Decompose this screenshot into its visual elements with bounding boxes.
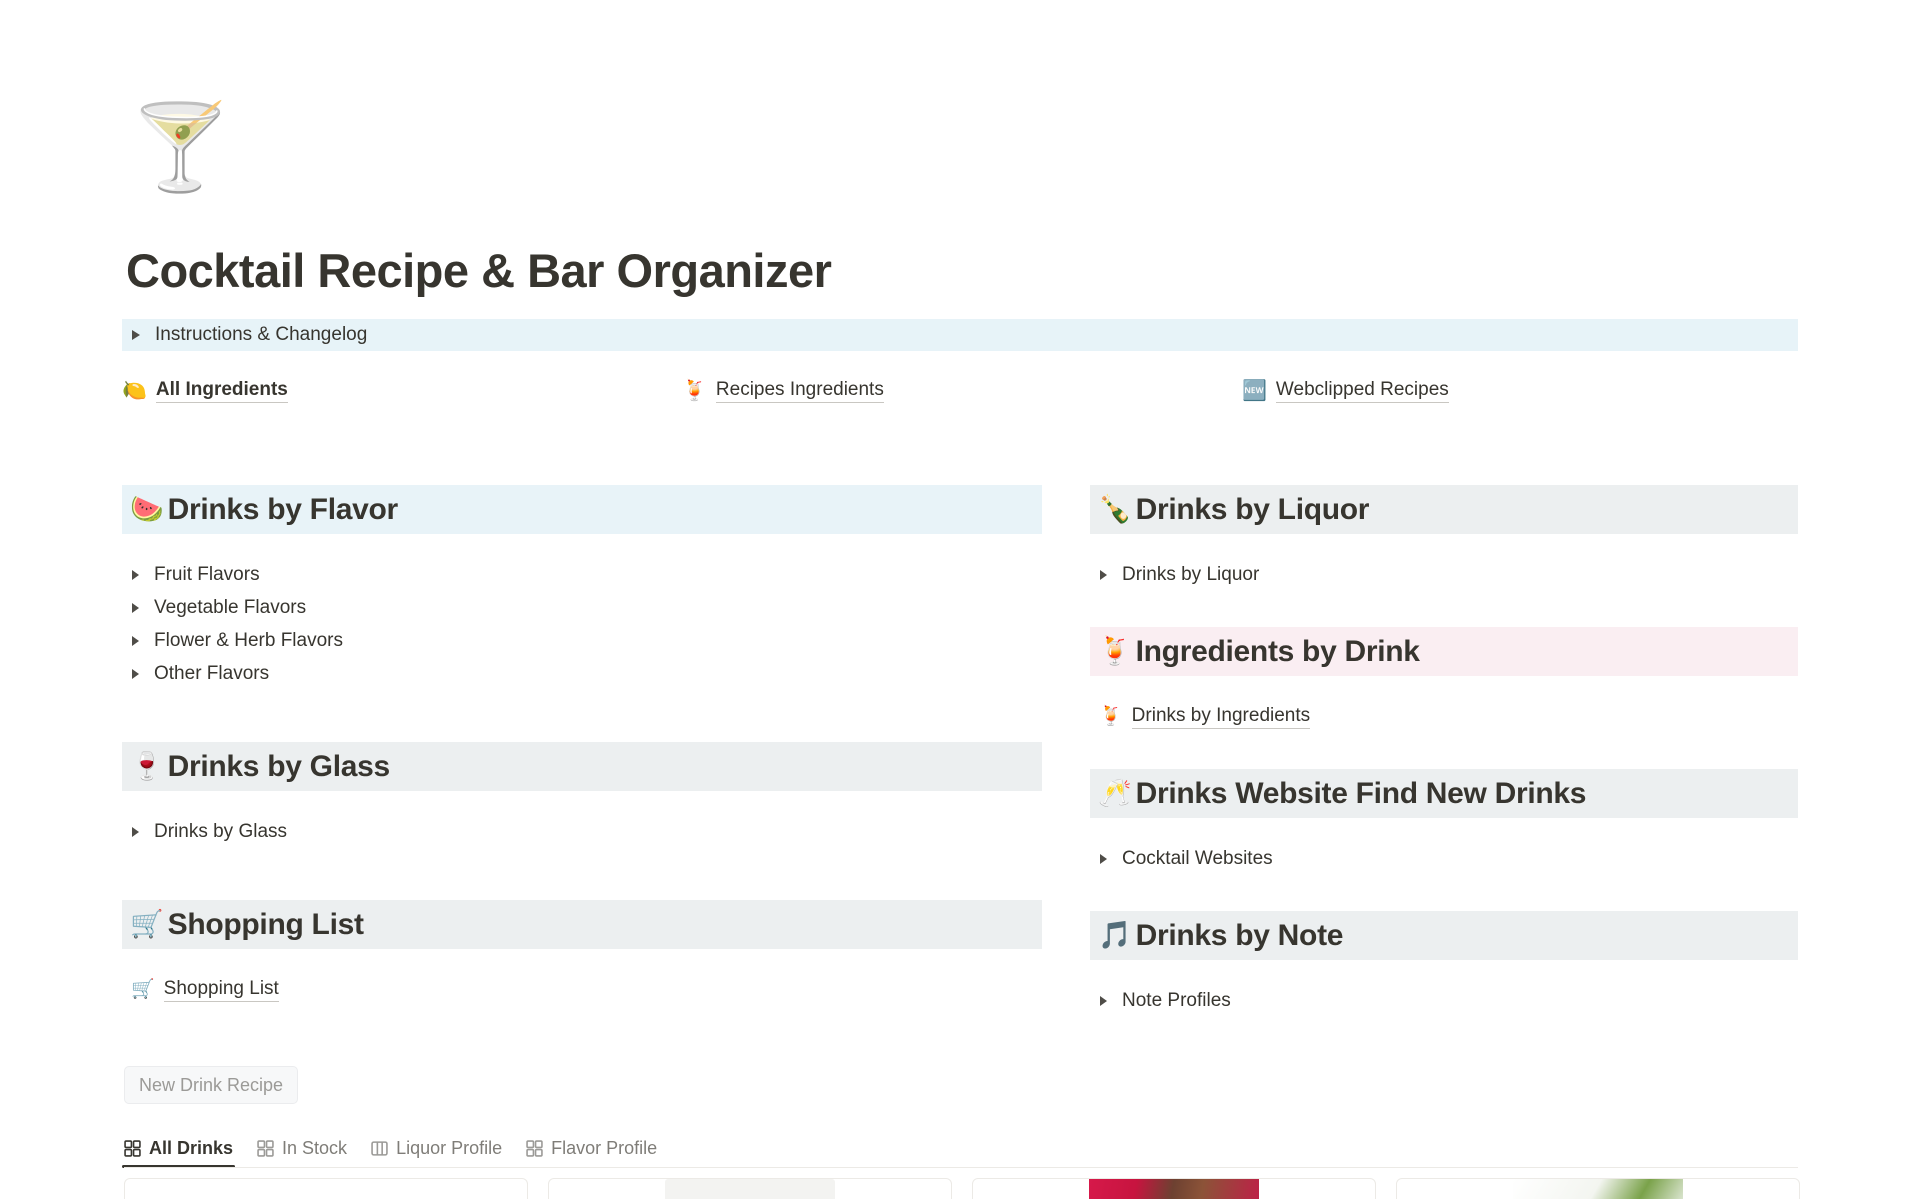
section-title: Drinks by Flavor [168, 493, 398, 527]
section-title: Shopping List [168, 908, 364, 942]
champagne-bottle-icon: 🍾 [1098, 496, 1132, 523]
tropical-drink-icon: 🍹 [1098, 638, 1132, 665]
notion-page: 🍸 Cocktail Recipe & Bar Organizer Instru… [0, 0, 1920, 1199]
toggle-label: Instructions & Changelog [155, 324, 367, 346]
section-header: 🛒 Shopping List [122, 900, 1042, 949]
toggle-fruit-flavors[interactable]: Fruit Flavors [122, 558, 1042, 591]
new-badge-icon: 🆕 [1242, 381, 1267, 401]
card-thumbnail [1513, 1179, 1683, 1199]
section-header: 🍹 Ingredients by Drink [1090, 627, 1798, 676]
gallery-view-icon [526, 1140, 543, 1157]
spacer [1090, 534, 1798, 558]
chevron-right-icon[interactable] [1100, 570, 1107, 580]
toggle-drinks-by-glass[interactable]: Drinks by Glass [122, 815, 1042, 848]
tab-in-stock[interactable]: In Stock [257, 1138, 347, 1168]
section-header: 🎵 Drinks by Note [1090, 911, 1798, 960]
toggle-label: Note Profiles [1122, 990, 1231, 1012]
section-drinks-by-liquor: 🍾 Drinks by Liquor Drinks by Liquor [1090, 485, 1798, 591]
spacer [122, 534, 1042, 558]
clinking-glasses-icon: 🥂 [1098, 780, 1132, 807]
database-view-tabs: All Drinks In Stock Liquor Profile [124, 1126, 657, 1168]
tab-label: Flavor Profile [551, 1138, 657, 1159]
chevron-right-icon[interactable] [132, 827, 139, 837]
toggle-label: Other Flavors [154, 663, 269, 685]
chevron-right-icon[interactable] [1100, 854, 1107, 864]
spacer [122, 791, 1042, 815]
section-header: 🍷 Drinks by Glass [122, 742, 1042, 791]
toggle-vegetable-flavors[interactable]: Vegetable Flavors [122, 591, 1042, 624]
gallery-card[interactable]: 🍸 [124, 1178, 528, 1199]
card-thumbnail [1089, 1179, 1259, 1199]
tab-flavor-profile[interactable]: Flavor Profile [526, 1138, 657, 1168]
link-shopping-list[interactable]: 🛒 Shopping List [122, 973, 1042, 1006]
new-drink-recipe-button[interactable]: New Drink Recipe [124, 1066, 298, 1104]
tropical-drink-icon: 🍹 [1099, 707, 1123, 726]
spacer [1090, 676, 1798, 700]
section-title: Drinks by Liquor [1136, 493, 1370, 527]
spacer [122, 690, 1042, 742]
quicklink-recipes-ingredients[interactable]: 🍹 Recipes Ingredients [682, 379, 1242, 403]
toggle-label: Fruit Flavors [154, 564, 260, 586]
gallery-view-icon [124, 1140, 141, 1157]
chevron-right-icon[interactable] [132, 603, 139, 613]
spacer [122, 949, 1042, 973]
toggle-label: Drinks by Glass [154, 821, 287, 843]
toggle-label: Vegetable Flavors [154, 597, 306, 619]
section-header: 🥂 Drinks Website Find New Drinks [1090, 769, 1798, 818]
section-title: Drinks by Glass [168, 750, 390, 784]
section-drinks-by-note: 🎵 Drinks by Note Note Profiles [1090, 911, 1798, 1017]
tab-label: Liquor Profile [396, 1138, 502, 1159]
watermelon-icon: 🍉 [130, 496, 164, 523]
page-icon-cocktail-glass[interactable]: 🍸 [128, 105, 233, 189]
quicklink-webclipped-recipes[interactable]: 🆕 Webclipped Recipes [1242, 379, 1802, 403]
page-title: Cocktail Recipe & Bar Organizer [126, 243, 831, 298]
spacer [122, 848, 1042, 900]
gallery-view-icon [257, 1140, 274, 1157]
section-title: Drinks by Note [1136, 919, 1344, 953]
spacer [1090, 818, 1798, 842]
chevron-right-icon[interactable] [1100, 996, 1107, 1006]
musical-note-icon: 🎵 [1098, 922, 1132, 949]
spacer [1090, 960, 1798, 984]
toggle-cocktail-websites[interactable]: Cocktail Websites [1090, 842, 1798, 875]
card-thumbnail [665, 1179, 835, 1199]
tab-all-drinks[interactable]: All Drinks [124, 1138, 233, 1168]
section-header: 🍾 Drinks by Liquor [1090, 485, 1798, 534]
card-thumbnail: 🍸 [241, 1179, 411, 1199]
toggle-label: Cocktail Websites [1122, 848, 1273, 870]
quicklink-label: All Ingredients [156, 379, 288, 403]
spacer [1090, 591, 1798, 627]
gallery-card-strip: 🍸 [124, 1178, 1800, 1199]
chevron-right-icon[interactable] [132, 330, 140, 340]
link-label: Drinks by Ingredients [1132, 705, 1310, 729]
toggle-note-profiles[interactable]: Note Profiles [1090, 984, 1798, 1017]
shopping-cart-icon: 🛒 [130, 911, 164, 938]
quicklink-label: Webclipped Recipes [1276, 379, 1449, 403]
quicklink-label: Recipes Ingredients [716, 379, 884, 403]
chevron-right-icon[interactable] [132, 669, 139, 679]
toggle-drinks-by-liquor[interactable]: Drinks by Liquor [1090, 558, 1798, 591]
quicklink-all-ingredients[interactable]: 🍋 All Ingredients [122, 379, 682, 403]
right-column: 🍾 Drinks by Liquor Drinks by Liquor 🍹 In… [1090, 485, 1798, 1017]
link-drinks-by-ingredients[interactable]: 🍹 Drinks by Ingredients [1090, 700, 1798, 733]
tab-label: In Stock [282, 1138, 347, 1159]
section-drinks-by-flavor: 🍉 Drinks by Flavor Fruit Flavors Vegetab… [122, 485, 1042, 690]
chevron-right-icon[interactable] [132, 570, 139, 580]
toggle-other-flavors[interactable]: Other Flavors [122, 657, 1042, 690]
section-title: Drinks Website Find New Drinks [1136, 777, 1587, 811]
shopping-cart-icon: 🛒 [131, 980, 155, 999]
gallery-card[interactable] [548, 1178, 952, 1199]
quicklinks-row: 🍋 All Ingredients 🍹 Recipes Ingredients … [122, 379, 1802, 403]
tab-label: All Drinks [149, 1138, 233, 1159]
toggle-instructions-changelog[interactable]: Instructions & Changelog [122, 319, 1798, 351]
toggle-label: Drinks by Liquor [1122, 564, 1259, 586]
section-ingredients-by-drink: 🍹 Ingredients by Drink 🍹 Drinks by Ingre… [1090, 627, 1798, 733]
board-view-icon [371, 1140, 388, 1157]
section-shopping-list: 🛒 Shopping List 🛒 Shopping List [122, 900, 1042, 1006]
toggle-label: Flower & Herb Flavors [154, 630, 343, 652]
spacer [1090, 875, 1798, 911]
tab-liquor-profile[interactable]: Liquor Profile [371, 1138, 502, 1168]
section-drinks-website-find-new-drinks: 🥂 Drinks Website Find New Drinks Cocktai… [1090, 769, 1798, 875]
gallery-card[interactable] [972, 1178, 1376, 1199]
chevron-right-icon[interactable] [132, 636, 139, 646]
section-drinks-by-glass: 🍷 Drinks by Glass Drinks by Glass [122, 742, 1042, 848]
tabs-divider [124, 1167, 1798, 1168]
lemon-icon: 🍋 [122, 381, 147, 401]
tropical-drink-icon: 🍹 [682, 381, 707, 401]
spacer [1090, 733, 1798, 769]
gallery-card[interactable] [1396, 1178, 1800, 1199]
section-title: Ingredients by Drink [1136, 635, 1420, 669]
wine-glass-icon: 🍷 [130, 753, 164, 780]
left-column: 🍉 Drinks by Flavor Fruit Flavors Vegetab… [122, 485, 1042, 1006]
link-label: Shopping List [164, 978, 279, 1002]
toggle-flower-herb-flavors[interactable]: Flower & Herb Flavors [122, 624, 1042, 657]
section-header: 🍉 Drinks by Flavor [122, 485, 1042, 534]
